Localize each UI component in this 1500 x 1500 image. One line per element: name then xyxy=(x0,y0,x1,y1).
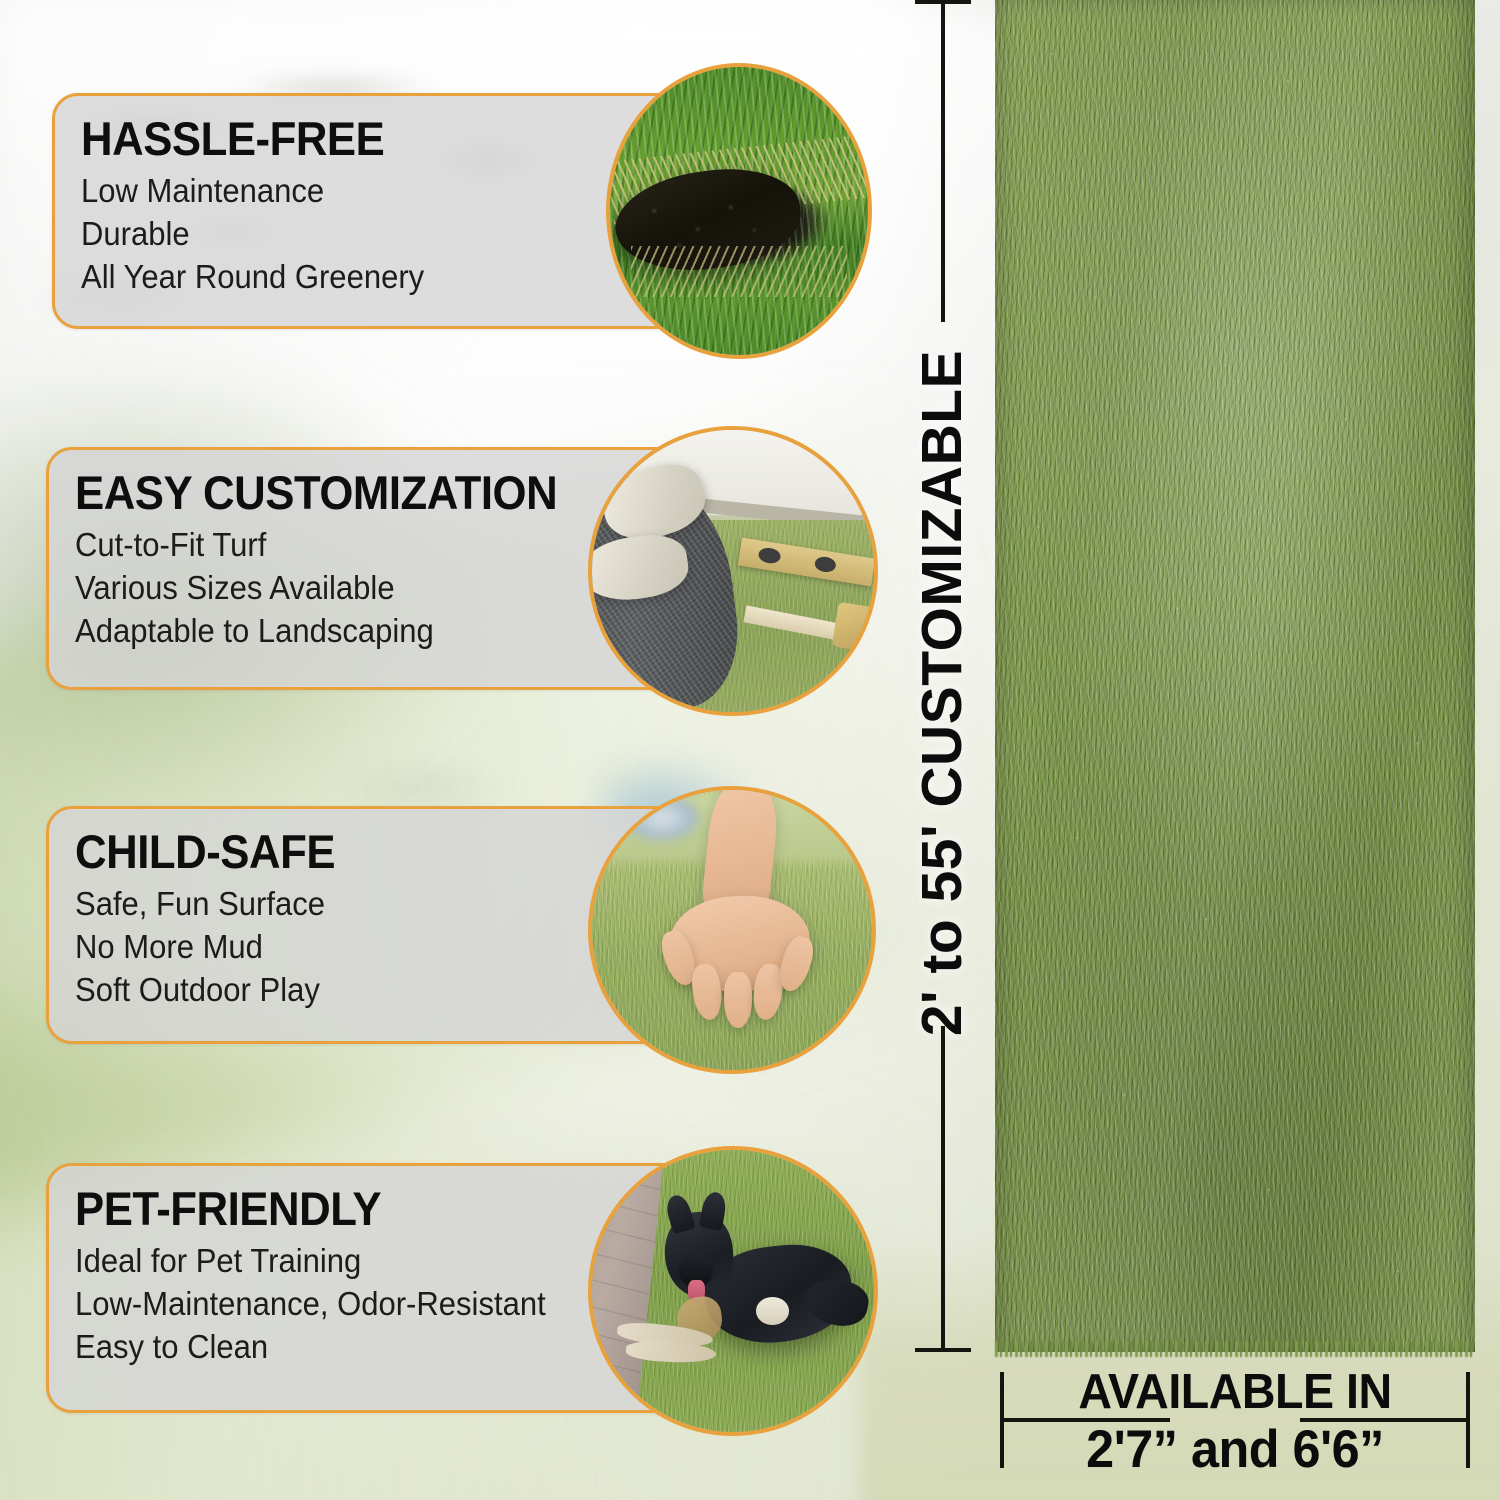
feature-bullet: Various Sizes Available xyxy=(75,567,669,610)
turf-installation-photo xyxy=(588,426,878,716)
turf-roll-strip xyxy=(995,0,1475,1352)
turf-speckle-texture xyxy=(995,0,1475,1352)
length-dimension-cap-top xyxy=(915,0,971,4)
turf-thatch-layer-lower xyxy=(631,246,848,298)
length-dimension-line-lower xyxy=(941,1026,945,1352)
child-finger xyxy=(724,972,752,1028)
turf-cross-section-photo xyxy=(606,63,872,359)
dog-chest-marking xyxy=(756,1297,790,1325)
width-dimension-label: AVAILABLE IN 2'7” and 6'6” xyxy=(1020,1368,1450,1476)
width-label-line-1: AVAILABLE IN xyxy=(1031,1368,1440,1417)
width-label-line-2: 2'7” and 6'6” xyxy=(1031,1423,1440,1476)
feature-bullet: Cut-to-Fit Turf xyxy=(75,524,669,567)
feature-bullet: Soft Outdoor Play xyxy=(75,969,669,1012)
product-feature-infographic: HASSLE-FREE Low Maintenance Durable All … xyxy=(0,0,1500,1500)
length-dimension-line-upper xyxy=(941,0,945,322)
feature-bullet: Safe, Fun Surface xyxy=(75,883,669,926)
feature-bullet: All Year Round Greenery xyxy=(81,256,675,299)
child-hand-on-turf-photo xyxy=(588,786,876,1074)
feature-bullet: No More Mud xyxy=(75,926,669,969)
dog-on-turf-photo xyxy=(588,1146,878,1436)
tape-measure-body xyxy=(831,602,878,654)
turf-bottom-edge xyxy=(995,1341,1475,1357)
feature-bullet: Easy to Clean xyxy=(75,1326,669,1369)
feature-bullet: Ideal for Pet Training xyxy=(75,1240,669,1283)
length-dimension-label: 2' to 55' CUSTOMIZABLE xyxy=(909,343,975,1043)
feature-bullet: Adaptable to Landscaping xyxy=(75,610,669,653)
feature-bullet: Durable xyxy=(81,213,675,256)
feature-title: HASSLE-FREE xyxy=(81,114,669,164)
photo-image xyxy=(592,430,874,712)
photo-image xyxy=(592,790,872,1070)
feature-title: CHILD-SAFE xyxy=(75,827,663,877)
feature-bullet: Low-Maintenance, Odor-Resistant xyxy=(75,1283,669,1326)
feature-title: PET-FRIENDLY xyxy=(75,1184,663,1234)
feature-bullet: Low Maintenance xyxy=(81,170,675,213)
photo-image xyxy=(592,1150,874,1432)
feature-title: EASY CUSTOMIZATION xyxy=(75,468,663,518)
photo-image xyxy=(610,67,868,355)
length-dimension-cap-bottom xyxy=(915,1348,971,1352)
